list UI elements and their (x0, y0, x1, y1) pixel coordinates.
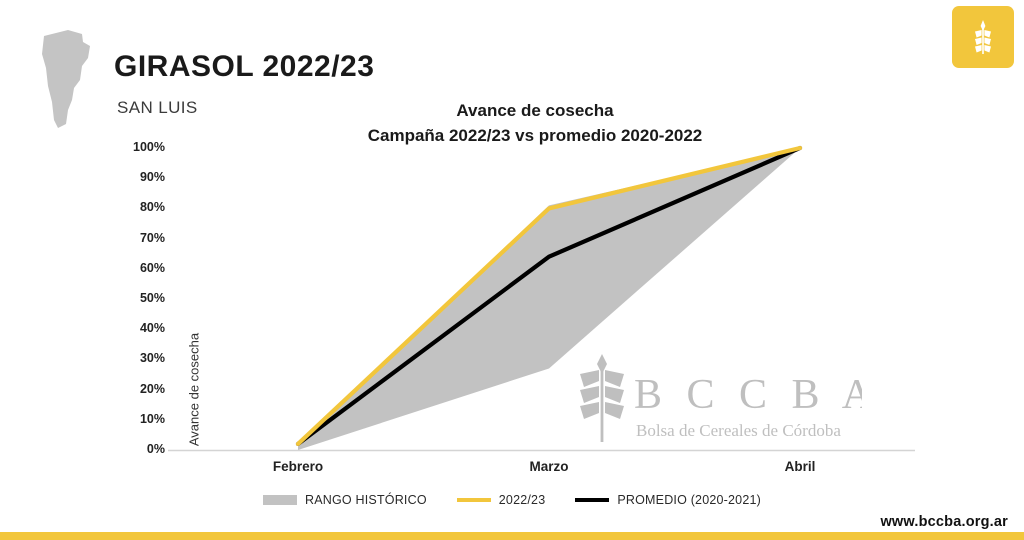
legend-swatch (457, 498, 491, 502)
y-axis-tick: 70% (105, 231, 165, 245)
legend-item[interactable]: PROMEDIO (2020-2021) (575, 493, 761, 507)
watermark-graphic: B C C B A Bolsa de Cereales de Córdoba (572, 352, 862, 448)
legend-label: PROMEDIO (2020-2021) (617, 493, 761, 507)
legend-item[interactable]: 2022/23 (457, 493, 546, 507)
x-axis-tick: Marzo (479, 459, 619, 474)
y-axis-tick: 100% (105, 140, 165, 154)
y-axis-tick: 90% (105, 170, 165, 184)
y-axis-tick: 30% (105, 351, 165, 365)
y-axis-tick: 60% (105, 261, 165, 275)
footer-accent-bar (0, 532, 1024, 540)
legend-label: 2022/23 (499, 493, 546, 507)
legend-item[interactable]: RANGO HISTÓRICO (263, 493, 427, 507)
y-axis-ticks: 0%10%20%30%40%50%60%70%80%90%100% (105, 0, 165, 540)
y-axis-tick: 80% (105, 200, 165, 214)
legend-label: RANGO HISTÓRICO (305, 493, 427, 507)
y-axis-tick: 40% (105, 321, 165, 335)
x-axis-tick: Febrero (228, 459, 368, 474)
legend-swatch (263, 495, 297, 505)
bccba-watermark: B C C B A Bolsa de Cereales de Córdoba (572, 352, 862, 448)
chart-legend: RANGO HISTÓRICO2022/23PROMEDIO (2020-202… (0, 493, 1024, 507)
watermark-fullname: Bolsa de Cereales de Córdoba (636, 421, 841, 440)
chart-page: GIRASOL 2022/23 SAN LUIS Avance de cosec… (0, 0, 1024, 540)
y-axis-tick: 20% (105, 382, 165, 396)
watermark-acronym: B C C B A (634, 372, 862, 418)
y-axis-label-holder: Avance de cosecha (100, 150, 101, 450)
footer-url[interactable]: www.bccba.org.ar (880, 514, 1008, 530)
y-axis-tick: 0% (105, 442, 165, 456)
legend-swatch (575, 498, 609, 502)
y-axis-tick: 10% (105, 412, 165, 426)
x-axis-tick: Abril (730, 459, 870, 474)
wheat-stalk-icon (580, 354, 624, 442)
y-axis-label: Avance de cosecha (187, 290, 202, 490)
chart-plot-area: 0%10%20%30%40%50%60%70%80%90%100% Avance… (0, 0, 1024, 540)
y-axis-tick: 50% (105, 291, 165, 305)
